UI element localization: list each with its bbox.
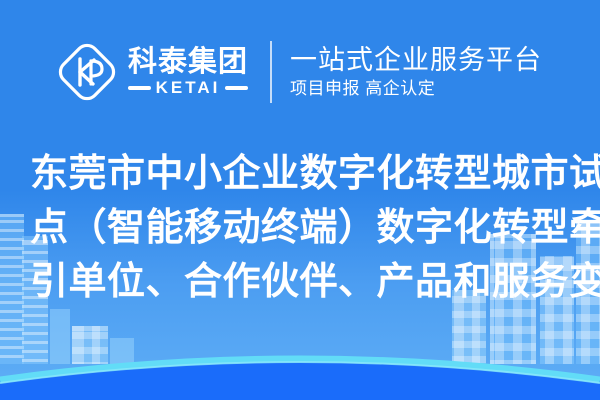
page-title-line-1: 东莞市中小企业数字化转型城市试 <box>30 148 570 202</box>
logo-dash-left <box>128 86 151 90</box>
logo-company-name-cn: 科泰集团 <box>128 48 248 77</box>
tagline-sub: 项目申报 高企认定 <box>290 80 542 98</box>
bottom-curved-arc <box>0 310 600 400</box>
promo-banner: 科泰集团 KETAI 一站式企业服务平台 项目申报 高企认定 东莞市中小企业数字… <box>0 0 600 400</box>
page-title-line-3: 引单位、合作伙伴、产品和服务变 <box>30 256 570 310</box>
tagline-main: 一站式企业服务平台 <box>290 46 542 74</box>
page-title-line-2: 点（智能移动终端）数字化转型牵 <box>30 202 570 256</box>
logo-dash-right <box>225 86 248 90</box>
logo-wordmark: 科泰集团 KETAI <box>128 48 248 96</box>
logo-company-name-en-row: KETAI <box>128 79 248 96</box>
header-divider <box>270 41 272 103</box>
brand-lockup[interactable]: 科泰集团 KETAI <box>58 43 248 101</box>
ketai-diamond-kp-logo-icon <box>58 43 116 101</box>
banner-header: 科泰集团 KETAI 一站式企业服务平台 项目申报 高企认定 <box>0 36 600 108</box>
page-title: 东莞市中小企业数字化转型城市试 点（智能移动终端）数字化转型牵 引单位、合作伙伴… <box>30 148 570 310</box>
header-tagline: 一站式企业服务平台 项目申报 高企认定 <box>290 46 542 97</box>
logo-company-name-en: KETAI <box>156 79 221 96</box>
